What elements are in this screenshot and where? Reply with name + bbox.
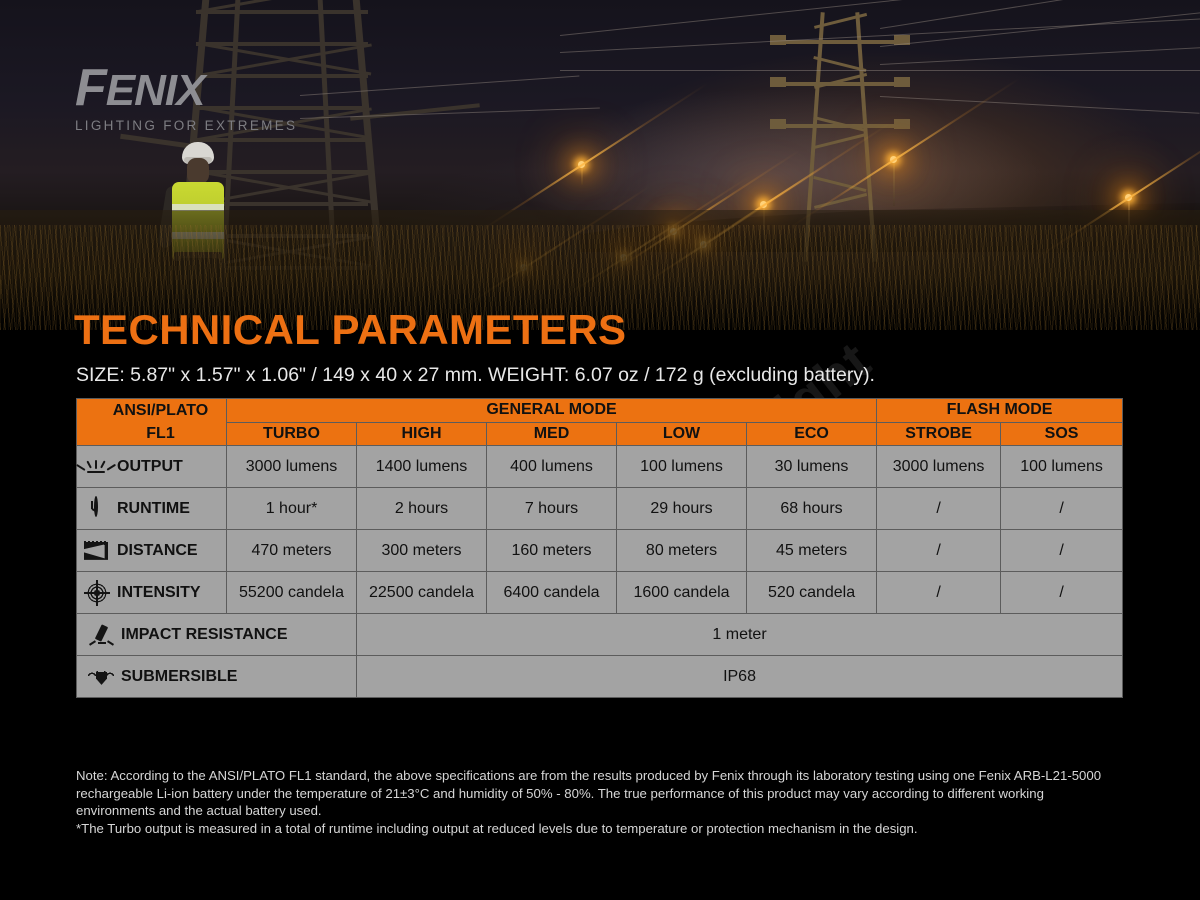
cell-runtime-strobe: / [877,488,1001,530]
submersible-icon [87,666,113,688]
note-ansi-standard: Note: According to the ANSI/PLATO FL1 st… [76,767,1124,820]
cell-output-low: 100 lumens [617,446,747,488]
cell-intensity-strobe: / [877,572,1001,614]
cell-runtime-eco: 68 hours [747,488,877,530]
cell-distance-low: 80 meters [617,530,747,572]
table-row: RUNTIME1 hour*2 hours7 hours29 hours68 h… [77,488,1123,530]
note-turbo-runtime: *The Turbo output is measured in a total… [76,820,1124,838]
table-header-mode-row: TURBOHIGHMEDLOWECOSTROBESOS [77,422,1123,446]
cell-distance-high: 300 meters [357,530,487,572]
cell-runtime-turbo: 1 hour* [227,488,357,530]
impact-resistance-icon [87,624,113,646]
table-row: INTENSITY55200 candela22500 candela6400 … [77,572,1123,614]
row-label-distance: DISTANCE [77,530,227,572]
cell-output-eco: 30 lumens [747,446,877,488]
cell-intensity-turbo: 55200 candela [227,572,357,614]
brand-tagline: LIGHTING FOR EXTREMES [75,118,297,133]
cell-impact-resistance-value: 1 meter [357,614,1123,656]
mode-header-low: LOW [617,422,747,446]
size-weight-line: SIZE: 5.87" x 1.57" x 1.06" / 149 x 40 x… [76,364,875,387]
mode-header-strobe: STROBE [877,422,1001,446]
cell-intensity-high: 22500 candela [357,572,487,614]
brand-rest: ENIX [106,66,205,115]
cell-distance-sos: / [1001,530,1123,572]
table-row: OUTPUT3000 lumens1400 lumens400 lumens10… [77,446,1123,488]
cell-intensity-med: 6400 candela [487,572,617,614]
target-intensity-icon [83,582,109,604]
row-label-output: OUTPUT [77,446,227,488]
cell-submersible-value: IP68 [357,656,1123,698]
output-burst-icon [83,456,109,478]
cell-intensity-low: 1600 candela [617,572,747,614]
mode-header-sos: SOS [1001,422,1123,446]
cell-distance-eco: 45 meters [747,530,877,572]
mode-header-high: HIGH [357,422,487,446]
row-label-runtime: RUNTIME [77,488,227,530]
cell-distance-turbo: 470 meters [227,530,357,572]
cell-runtime-med: 7 hours [487,488,617,530]
mode-header-turbo: TURBO [227,422,357,446]
table-row: DISTANCE470 meters300 meters160 meters80… [77,530,1123,572]
cell-distance-med: 160 meters [487,530,617,572]
table-row: SUBMERSIBLEIP68 [77,656,1123,698]
clock-icon [83,498,109,520]
fenix-logo: FENIX LIGHTING FOR EXTREMES [75,62,297,133]
cell-output-sos: 100 lumens [1001,446,1123,488]
product-spec-page: FENIX LIGHTING FOR EXTREMES TECHNICAL PA… [0,0,1200,900]
page-title: TECHNICAL PARAMETERS [74,309,626,351]
cell-intensity-sos: / [1001,572,1123,614]
cell-output-med: 400 lumens [487,446,617,488]
brand-wordmark: FENIX [75,62,297,114]
row-label-impact-resistance: IMPACT RESISTANCE [77,614,357,656]
cell-output-strobe: 3000 lumens [877,446,1001,488]
row-label-intensity: INTENSITY [77,572,227,614]
beam-distance-icon [83,540,109,562]
brand-initial: F [75,59,106,117]
spec-table: ANSI/PLATOFL1GENERAL MODEFLASH MODETURBO… [76,398,1123,698]
hero-night-photo: FENIX LIGHTING FOR EXTREMES [0,0,1200,330]
cell-intensity-eco: 520 candela [747,572,877,614]
spec-table-wrapper: ANSI/PLATOFL1GENERAL MODEFLASH MODETURBO… [76,398,1122,698]
mode-header-med: MED [487,422,617,446]
mode-header-eco: ECO [747,422,877,446]
group-header-general: GENERAL MODE [227,399,877,423]
worker-head [187,158,209,184]
table-row: IMPACT RESISTANCE1 meter [77,614,1123,656]
cell-output-high: 1400 lumens [357,446,487,488]
row-label-submersible: SUBMERSIBLE [77,656,357,698]
cell-runtime-low: 29 hours [617,488,747,530]
group-header-flash: FLASH MODE [877,399,1123,423]
cell-runtime-sos: / [1001,488,1123,530]
cell-runtime-high: 2 hours [357,488,487,530]
corner-header: ANSI/PLATOFL1 [77,399,227,446]
cell-distance-strobe: / [877,530,1001,572]
table-header-group-row: ANSI/PLATOFL1GENERAL MODEFLASH MODE [77,399,1123,423]
cell-output-turbo: 3000 lumens [227,446,357,488]
